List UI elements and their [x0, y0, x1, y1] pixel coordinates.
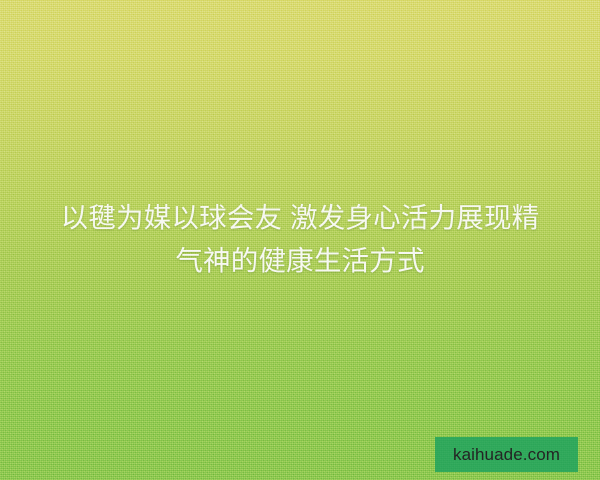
- image-canvas: 以毽为媒以球会友 激发身心活力展现精气神的健康生活方式 kaihuade.com: [0, 0, 600, 480]
- caption-line-2: 气神的健康生活方式: [175, 245, 424, 276]
- caption-text: 以毽为媒以球会友 激发身心活力展现精气神的健康生活方式: [0, 196, 600, 282]
- caption-line-1: 以毽为媒以球会友 激发身心活力展现精: [61, 202, 540, 233]
- watermark-label: kaihuade.com: [453, 446, 560, 463]
- watermark-badge: kaihuade.com: [435, 437, 578, 472]
